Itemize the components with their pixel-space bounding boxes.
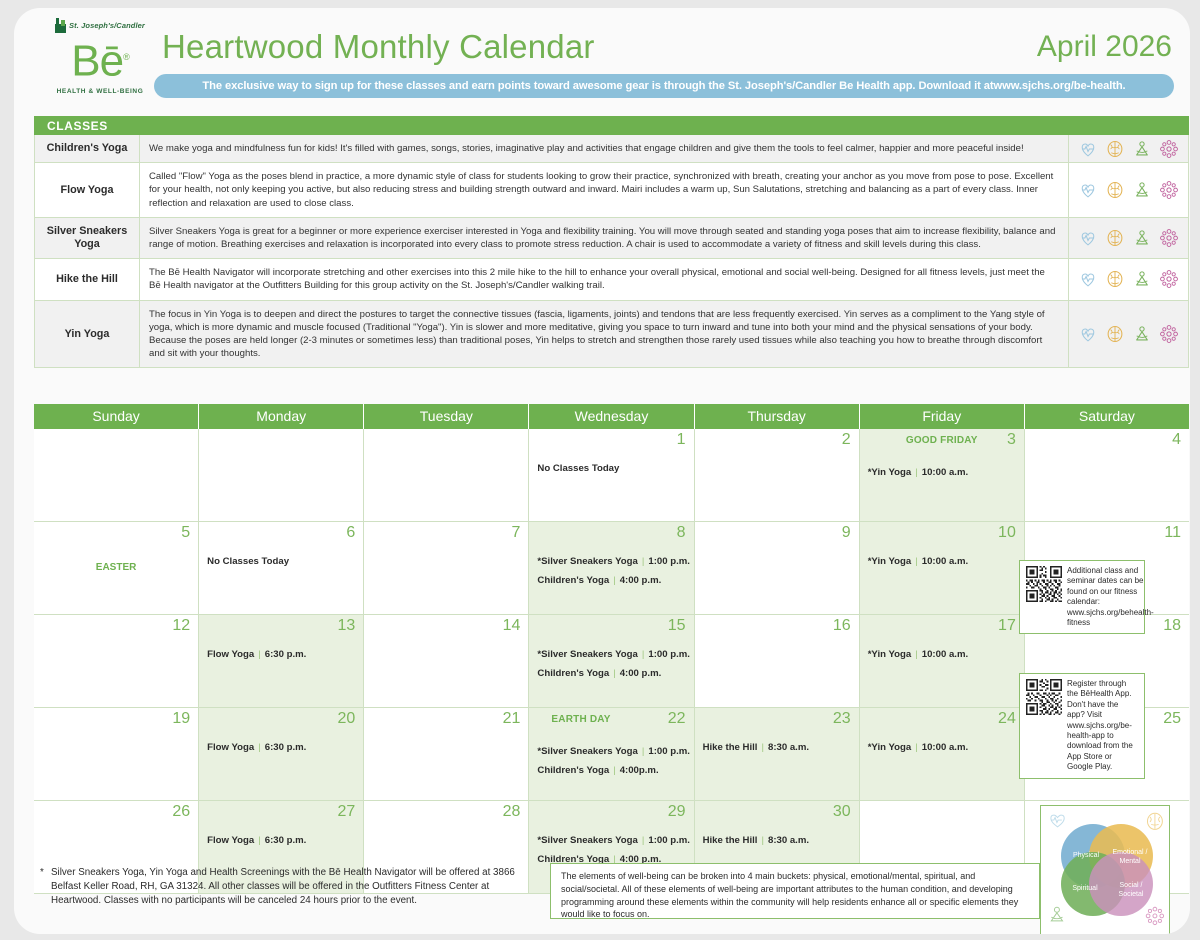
event-name: Flow Yoga — [207, 835, 254, 846]
holiday-label: EARTH DAY — [551, 714, 610, 725]
calendar-day-12[interactable]: 12 — [34, 615, 199, 707]
day-number: 1 — [677, 431, 686, 449]
event-time: 10:00 a.m. — [922, 742, 968, 753]
day-number: 9 — [842, 524, 851, 542]
class-wellbeing-icons — [1068, 135, 1188, 162]
heart-pulse-icon — [1078, 269, 1098, 289]
no-classes-note: No Classes Today — [207, 556, 355, 567]
event-name: Hike the Hill — [703, 835, 758, 846]
day-number: 18 — [1163, 617, 1181, 635]
event-time: 4:00p.m. — [620, 765, 659, 776]
calendar-day-2[interactable]: 2 — [695, 429, 860, 521]
weekday-header-row: SundayMondayTuesdayWednesdayThursdayFrid… — [34, 404, 1189, 429]
event-name: *Silver Sneakers Yoga — [537, 649, 637, 660]
event-name: *Silver Sneakers Yoga — [537, 556, 637, 567]
social-cluster-icon — [1159, 139, 1179, 159]
day-events: Flow Yoga|6:30 p.m. — [207, 835, 355, 854]
wellbeing-venn-diagram: Physical Emotional / Mental Spiritual So… — [1040, 805, 1170, 934]
calendar-event[interactable]: Children's Yoga|4:00 p.m. — [537, 575, 685, 586]
calendar-day-10[interactable]: 10*Yin Yoga|10:00 a.m. — [860, 522, 1025, 614]
meditating-figure-icon — [1132, 180, 1152, 200]
event-separator: | — [761, 835, 764, 846]
event-separator: | — [258, 742, 261, 753]
calendar-day-15[interactable]: 15*Silver Sneakers Yoga|1:00 p.m.Childre… — [529, 615, 694, 707]
calendar-event[interactable]: *Silver Sneakers Yoga|1:00 p.m. — [537, 835, 685, 846]
day-number: 14 — [503, 617, 521, 635]
day-events: *Yin Yoga|10:00 a.m. — [868, 467, 1016, 486]
banner-text: The exclusive way to sign up for these c… — [202, 80, 993, 92]
calendar-grid: SundayMondayTuesdayWednesdayThursdayFrid… — [34, 404, 1189, 894]
day-events: No Classes Today — [207, 556, 355, 567]
class-name: Hike the Hill — [35, 259, 140, 299]
event-name: *Silver Sneakers Yoga — [537, 835, 637, 846]
brand-tagline: HEALTH & WELL-BEING — [57, 88, 144, 95]
class-description: Silver Sneakers Yoga is great for a begi… — [140, 218, 1068, 258]
calendar-week-row: 5EASTER6No Classes Today78*Silver Sneake… — [34, 522, 1189, 615]
day-events: *Silver Sneakers Yoga|1:00 p.m.Children'… — [537, 556, 685, 594]
class-row: Children's YogaWe make yoga and mindfuln… — [34, 135, 1189, 163]
event-name: *Yin Yoga — [868, 649, 912, 660]
day-events: No Classes Today — [537, 463, 685, 474]
social-cluster-icon — [1159, 228, 1179, 248]
calendar-day-6[interactable]: 6No Classes Today — [199, 522, 364, 614]
calendar-day-7[interactable]: 7 — [364, 522, 529, 614]
brain-icon — [1105, 324, 1125, 344]
brain-icon — [1147, 813, 1162, 829]
event-separator: | — [613, 575, 616, 586]
calendar-event[interactable]: *Yin Yoga|10:00 a.m. — [868, 649, 1016, 660]
brain-icon — [1105, 269, 1125, 289]
class-description: We make yoga and mindfulness fun for kid… — [140, 135, 1068, 162]
calendar-day-23[interactable]: 23Hike the Hill|8:30 a.m. — [695, 708, 860, 800]
wellbeing-description-box: The elements of well-being can be broken… — [550, 863, 1040, 919]
day-number: 12 — [172, 617, 190, 635]
day-events: *Silver Sneakers Yoga|1:00 p.m.Children'… — [537, 746, 685, 784]
class-name: Silver Sneakers Yoga — [35, 218, 140, 258]
meditating-figure-icon — [1132, 139, 1152, 159]
calendar-event[interactable]: Flow Yoga|6:30 p.m. — [207, 742, 355, 753]
calendar-day-9[interactable]: 9 — [695, 522, 860, 614]
weekday-header-tuesday: Tuesday — [364, 404, 529, 429]
event-separator: | — [915, 649, 918, 660]
app-signup-banner: The exclusive way to sign up for these c… — [154, 74, 1174, 98]
page-title: Heartwood Monthly Calendar — [162, 28, 595, 66]
calendar-event[interactable]: Hike the Hill|8:30 a.m. — [703, 742, 851, 753]
event-separator: | — [915, 467, 918, 478]
venn-label-emotional-2: Mental — [1119, 858, 1140, 865]
venn-label-social: Social / — [1120, 882, 1143, 889]
day-number: 23 — [833, 710, 851, 728]
calendar-event[interactable]: *Yin Yoga|10:00 a.m. — [868, 742, 1016, 753]
event-time: 6:30 p.m. — [265, 742, 307, 753]
calendar-event[interactable]: Hike the Hill|8:30 a.m. — [703, 835, 851, 846]
heart-pulse-icon — [1078, 324, 1098, 344]
event-separator: | — [915, 742, 918, 753]
event-name: *Silver Sneakers Yoga — [537, 746, 637, 757]
brain-icon — [1105, 139, 1125, 159]
class-description: The focus in Yin Yoga is to deepen and d… — [140, 301, 1068, 368]
day-number: 27 — [337, 803, 355, 821]
calendar-day-3[interactable]: 3GOOD FRIDAY*Yin Yoga|10:00 a.m. — [860, 429, 1025, 521]
footnote-text: Silver Sneakers Yoga, Yin Yoga and Healt… — [40, 866, 540, 908]
event-name: Flow Yoga — [207, 742, 254, 753]
day-number: 11 — [1164, 524, 1181, 542]
class-wellbeing-icons — [1068, 301, 1188, 368]
social-cluster-icon — [1159, 269, 1179, 289]
qr-code-icon — [1026, 566, 1062, 602]
calendar-day-14[interactable]: 14 — [364, 615, 529, 707]
meditating-figure-icon — [1132, 228, 1152, 248]
be-wordmark: Bē® — [71, 35, 128, 84]
calendar-day-empty — [364, 429, 529, 521]
day-number: 20 — [337, 710, 355, 728]
day-events: *Yin Yoga|10:00 a.m. — [868, 649, 1016, 668]
calendar-body: 1No Classes Today23GOOD FRIDAY*Yin Yoga|… — [34, 429, 1189, 894]
brain-icon — [1105, 180, 1125, 200]
meditating-figure-icon — [1051, 907, 1062, 921]
event-time: 8:30 a.m. — [768, 742, 809, 753]
class-wellbeing-icons — [1068, 259, 1188, 299]
social-cluster-icon — [1159, 324, 1179, 344]
class-row: Flow YogaCalled "Flow" Yoga as the poses… — [34, 163, 1189, 218]
sjc-name: St. Joseph's/Candler — [69, 21, 145, 30]
calendar-week-row: 1No Classes Today23GOOD FRIDAY*Yin Yoga|… — [34, 429, 1189, 522]
class-row: Hike the HillThe Bē Health Navigator wil… — [34, 259, 1189, 300]
event-time: 6:30 p.m. — [265, 649, 307, 660]
classes-table: CLASSES Children's YogaWe make yoga and … — [34, 116, 1189, 368]
calendar-event[interactable]: *Silver Sneakers Yoga|1:00 p.m. — [537, 746, 685, 757]
day-number: 8 — [677, 524, 686, 542]
day-events: Flow Yoga|6:30 p.m. — [207, 742, 355, 761]
calendar-day-21[interactable]: 21 — [364, 708, 529, 800]
month-label: April 2026 — [1037, 30, 1172, 64]
calendar-event[interactable]: *Yin Yoga|10:00 a.m. — [868, 467, 1016, 478]
calendar-page: St. Joseph's/Candler Bē® HEALTH & WELL-B… — [14, 8, 1190, 934]
class-name: Children's Yoga — [35, 135, 140, 162]
meditating-figure-icon — [1132, 324, 1152, 344]
footnote-asterisk: * — [40, 866, 44, 880]
page-header: St. Joseph's/Candler Bē® HEALTH & WELL-B… — [14, 8, 1190, 106]
class-description: The Bē Health Navigator will incorporate… — [140, 259, 1068, 299]
day-events: Flow Yoga|6:30 p.m. — [207, 649, 355, 668]
event-name: Children's Yoga — [537, 575, 609, 586]
registered-mark: ® — [123, 52, 129, 62]
event-separator: | — [642, 835, 645, 846]
wellbeing-text: The elements of well-being can be broken… — [561, 871, 1018, 919]
weekday-header-wednesday: Wednesday — [529, 404, 694, 429]
calendar-day-empty — [34, 429, 199, 521]
event-time: 10:00 a.m. — [922, 467, 968, 478]
event-name: *Yin Yoga — [868, 556, 912, 567]
footnote: * Silver Sneakers Yoga, Yin Yoga and Hea… — [40, 866, 540, 908]
event-time: 1:00 p.m. — [648, 649, 690, 660]
calendar-day-8[interactable]: 8*Silver Sneakers Yoga|1:00 p.m.Children… — [529, 522, 694, 614]
weekday-header-saturday: Saturday — [1025, 404, 1189, 429]
heart-pulse-icon — [1078, 228, 1098, 248]
day-number: 17 — [998, 617, 1016, 635]
day-events: Hike the Hill|8:30 a.m. — [703, 742, 851, 761]
calendar-day-17[interactable]: 17*Yin Yoga|10:00 a.m. — [860, 615, 1025, 707]
class-row: Silver Sneakers YogaSilver Sneakers Yoga… — [34, 218, 1189, 259]
event-name: *Yin Yoga — [868, 742, 912, 753]
event-separator: | — [915, 556, 918, 567]
event-separator: | — [761, 742, 764, 753]
heart-pulse-icon — [1051, 815, 1064, 827]
day-number: 26 — [172, 803, 190, 821]
day-number: 7 — [512, 524, 521, 542]
be-wordmark-text: Bē — [71, 37, 123, 86]
calendar-day-19[interactable]: 19 — [34, 708, 199, 800]
day-number: 24 — [998, 710, 1016, 728]
event-separator: | — [642, 649, 645, 660]
calendar-day-empty — [199, 429, 364, 521]
brain-icon — [1105, 228, 1125, 248]
calendar-day-16[interactable]: 16 — [695, 615, 860, 707]
event-separator: | — [642, 556, 645, 567]
event-time: 1:00 p.m. — [648, 746, 690, 757]
meditating-figure-icon — [1132, 269, 1152, 289]
event-separator: | — [613, 668, 616, 679]
heart-pulse-icon — [1078, 139, 1098, 159]
class-wellbeing-icons — [1068, 218, 1188, 258]
qr-code-icon — [1026, 679, 1062, 715]
event-time: 4:00 p.m. — [620, 575, 662, 586]
day-number: 29 — [668, 803, 686, 821]
event-name: Flow Yoga — [207, 649, 254, 660]
venn-label-social-2: Societal — [1119, 891, 1144, 898]
day-number: 21 — [503, 710, 521, 728]
event-separator: | — [642, 746, 645, 757]
calendar-day-1[interactable]: 1No Classes Today — [529, 429, 694, 521]
event-time: 1:00 p.m. — [648, 835, 690, 846]
calendar-day-13[interactable]: 13Flow Yoga|6:30 p.m. — [199, 615, 364, 707]
heart-pulse-icon — [1078, 180, 1098, 200]
holiday-label: GOOD FRIDAY — [860, 435, 1024, 446]
class-row: Yin YogaThe focus in Yin Yoga is to deep… — [34, 301, 1189, 369]
calendar-event[interactable]: Children's Yoga|4:00p.m. — [537, 765, 685, 776]
event-time: 1:00 p.m. — [648, 556, 690, 567]
calendar-day-24[interactable]: 24*Yin Yoga|10:00 a.m. — [860, 708, 1025, 800]
class-description: Called "Flow" Yoga as the poses blend in… — [140, 163, 1068, 217]
weekday-header-friday: Friday — [860, 404, 1025, 429]
day-number: 16 — [833, 617, 851, 635]
day-number: 15 — [668, 617, 686, 635]
day-number: 2 — [842, 431, 851, 449]
venn-label-spiritual: Spiritual — [1072, 885, 1098, 892]
event-name: Children's Yoga — [537, 765, 609, 776]
calendar-week-row: 1213Flow Yoga|6:30 p.m.1415*Silver Sneak… — [34, 615, 1189, 708]
social-cluster-icon — [1159, 180, 1179, 200]
event-separator: | — [258, 649, 261, 660]
day-number: 28 — [503, 803, 521, 821]
calendar-day-5[interactable]: 5EASTER — [34, 522, 199, 614]
day-number: 6 — [346, 524, 355, 542]
calendar-event[interactable]: Children's Yoga|4:00 p.m. — [537, 668, 685, 679]
event-name: Hike the Hill — [703, 742, 758, 753]
calendar-event[interactable]: *Silver Sneakers Yoga|1:00 p.m. — [537, 556, 685, 567]
holiday-label: EASTER — [34, 562, 198, 573]
no-classes-note: No Classes Today — [537, 463, 685, 474]
qr-note-text: Register through the BēHealth App. Don't… — [1067, 679, 1138, 773]
qr-note-text: Additional class and seminar dates can b… — [1067, 566, 1154, 628]
qr-note-register-app[interactable]: Register through the BēHealth App. Don't… — [1019, 673, 1145, 779]
weekday-header-thursday: Thursday — [695, 404, 860, 429]
st-josephs-candler-lockup: St. Joseph's/Candler — [55, 16, 145, 34]
class-name: Flow Yoga — [35, 163, 140, 217]
day-events: *Yin Yoga|10:00 a.m. — [868, 742, 1016, 761]
venn-label-physical: Physical — [1073, 852, 1100, 859]
event-time: 6:30 p.m. — [265, 835, 307, 846]
event-separator: | — [258, 835, 261, 846]
calendar-day-4[interactable]: 4 — [1025, 429, 1189, 521]
class-wellbeing-icons — [1068, 163, 1188, 217]
classes-section-header: CLASSES — [34, 116, 1189, 135]
calendar-event[interactable]: Flow Yoga|6:30 p.m. — [207, 649, 355, 660]
day-events: *Silver Sneakers Yoga|1:00 p.m.Children'… — [537, 649, 685, 687]
day-number: 5 — [181, 524, 190, 542]
banner-url[interactable]: www.sjchs.org/be-health. — [993, 80, 1125, 92]
weekday-header-sunday: Sunday — [34, 404, 199, 429]
day-number: 19 — [172, 710, 190, 728]
day-number: 13 — [337, 617, 355, 635]
qr-note-additional-classes[interactable]: Additional class and seminar dates can b… — [1019, 560, 1145, 634]
class-name: Yin Yoga — [35, 301, 140, 368]
day-number: 22 — [668, 710, 686, 728]
event-name: *Yin Yoga — [868, 467, 912, 478]
day-number: 10 — [998, 524, 1016, 542]
day-number: 25 — [1163, 710, 1181, 728]
day-number: 4 — [1172, 431, 1181, 449]
day-events: Hike the Hill|8:30 a.m. — [703, 835, 851, 854]
event-name: Children's Yoga — [537, 668, 609, 679]
event-separator: | — [613, 765, 616, 776]
venn-label-emotional: Emotional / — [1112, 849, 1147, 856]
event-time: 10:00 a.m. — [922, 649, 968, 660]
event-time: 8:30 a.m. — [768, 835, 809, 846]
day-events: *Yin Yoga|10:00 a.m. — [868, 556, 1016, 575]
calendar-day-20[interactable]: 20Flow Yoga|6:30 p.m. — [199, 708, 364, 800]
be-health-logo: St. Joseph's/Candler Bē® HEALTH & WELL-B… — [52, 16, 148, 104]
calendar-event[interactable]: *Silver Sneakers Yoga|1:00 p.m. — [537, 649, 685, 660]
social-cluster-icon — [1146, 907, 1163, 924]
weekday-header-monday: Monday — [199, 404, 364, 429]
day-number: 30 — [833, 803, 851, 821]
classes-row-container: Children's YogaWe make yoga and mindfuln… — [34, 135, 1189, 368]
calendar-event[interactable]: Flow Yoga|6:30 p.m. — [207, 835, 355, 846]
calendar-event[interactable]: *Yin Yoga|10:00 a.m. — [868, 556, 1016, 567]
event-time: 4:00 p.m. — [620, 668, 662, 679]
calendar-day-22[interactable]: 22EARTH DAY*Silver Sneakers Yoga|1:00 p.… — [529, 708, 694, 800]
calendar-week-row: 1920Flow Yoga|6:30 p.m.2122EARTH DAY*Sil… — [34, 708, 1189, 801]
sjc-building-icon — [55, 18, 66, 33]
event-time: 10:00 a.m. — [922, 556, 968, 567]
